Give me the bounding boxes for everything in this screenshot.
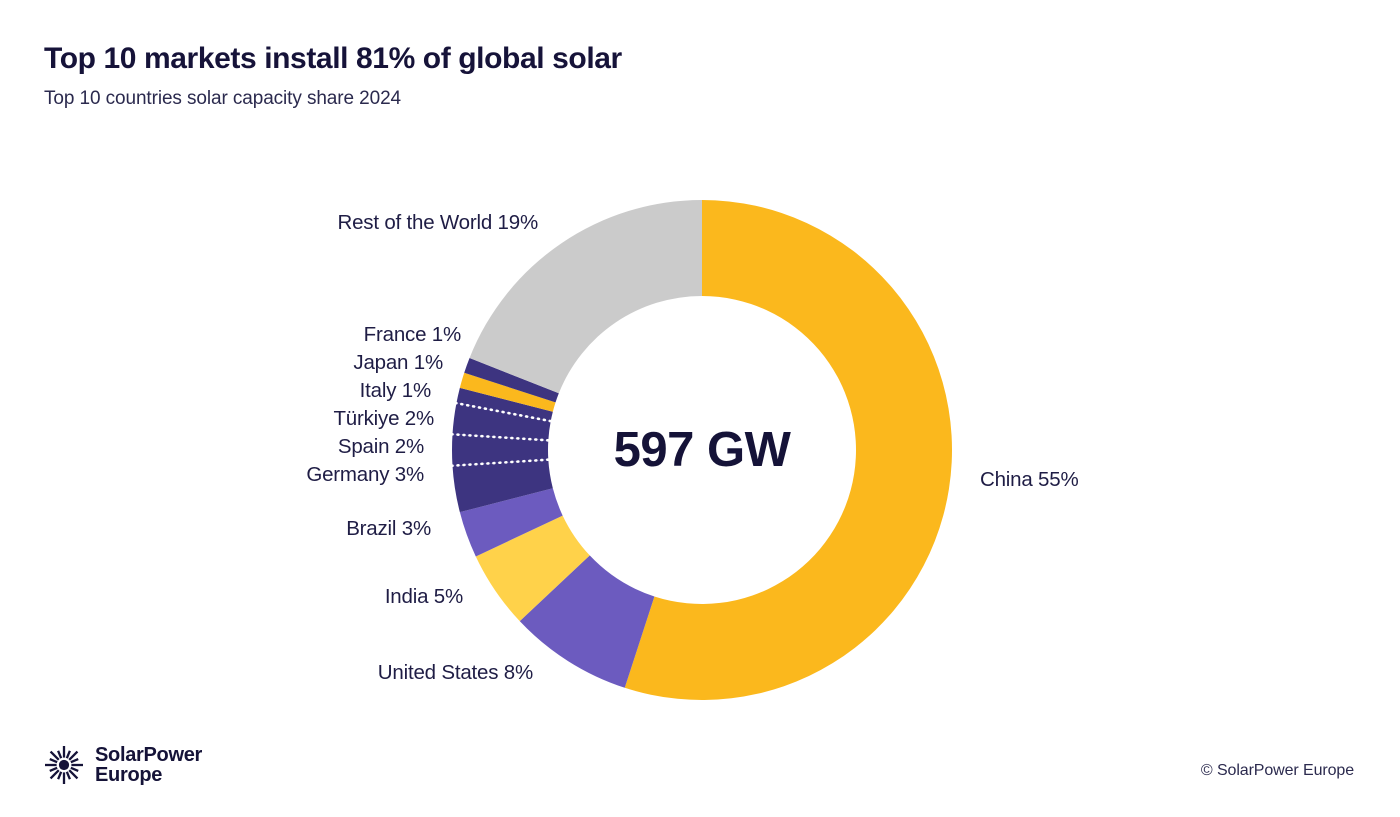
sun-burst-icon bbox=[44, 745, 84, 785]
brand-wordmark: SolarPower Europe bbox=[95, 745, 202, 786]
slice-label-brazil: Brazil 3% bbox=[346, 519, 431, 540]
slice-label-italy: Italy 1% bbox=[360, 381, 431, 402]
slice-label-germany: Germany 3% bbox=[306, 465, 424, 486]
slice-label-turkiye: Türkiye 2% bbox=[333, 409, 434, 430]
brand-logo: SolarPower Europe bbox=[44, 745, 202, 786]
slice-label-india: India 5% bbox=[385, 587, 463, 608]
slice-label-rest-of-world: Rest of the World 19% bbox=[337, 213, 538, 234]
donut-center-value: 597 GW bbox=[614, 422, 791, 478]
slice-label-spain: Spain 2% bbox=[338, 437, 424, 458]
donut-chart: 597 GW China 55% Rest of the World 19% F… bbox=[0, 0, 1400, 817]
copyright-notice: © SolarPower Europe bbox=[1201, 762, 1354, 780]
slice-label-china: China 55% bbox=[980, 470, 1079, 491]
slice-label-united-states: United States 8% bbox=[378, 663, 533, 684]
slice-label-france: France 1% bbox=[364, 325, 461, 346]
donut-svg bbox=[0, 0, 1400, 817]
brand-wordmark-line2: Europe bbox=[95, 765, 202, 785]
brand-wordmark-line1: SolarPower bbox=[95, 745, 202, 765]
slice-label-japan: Japan 1% bbox=[353, 353, 443, 374]
